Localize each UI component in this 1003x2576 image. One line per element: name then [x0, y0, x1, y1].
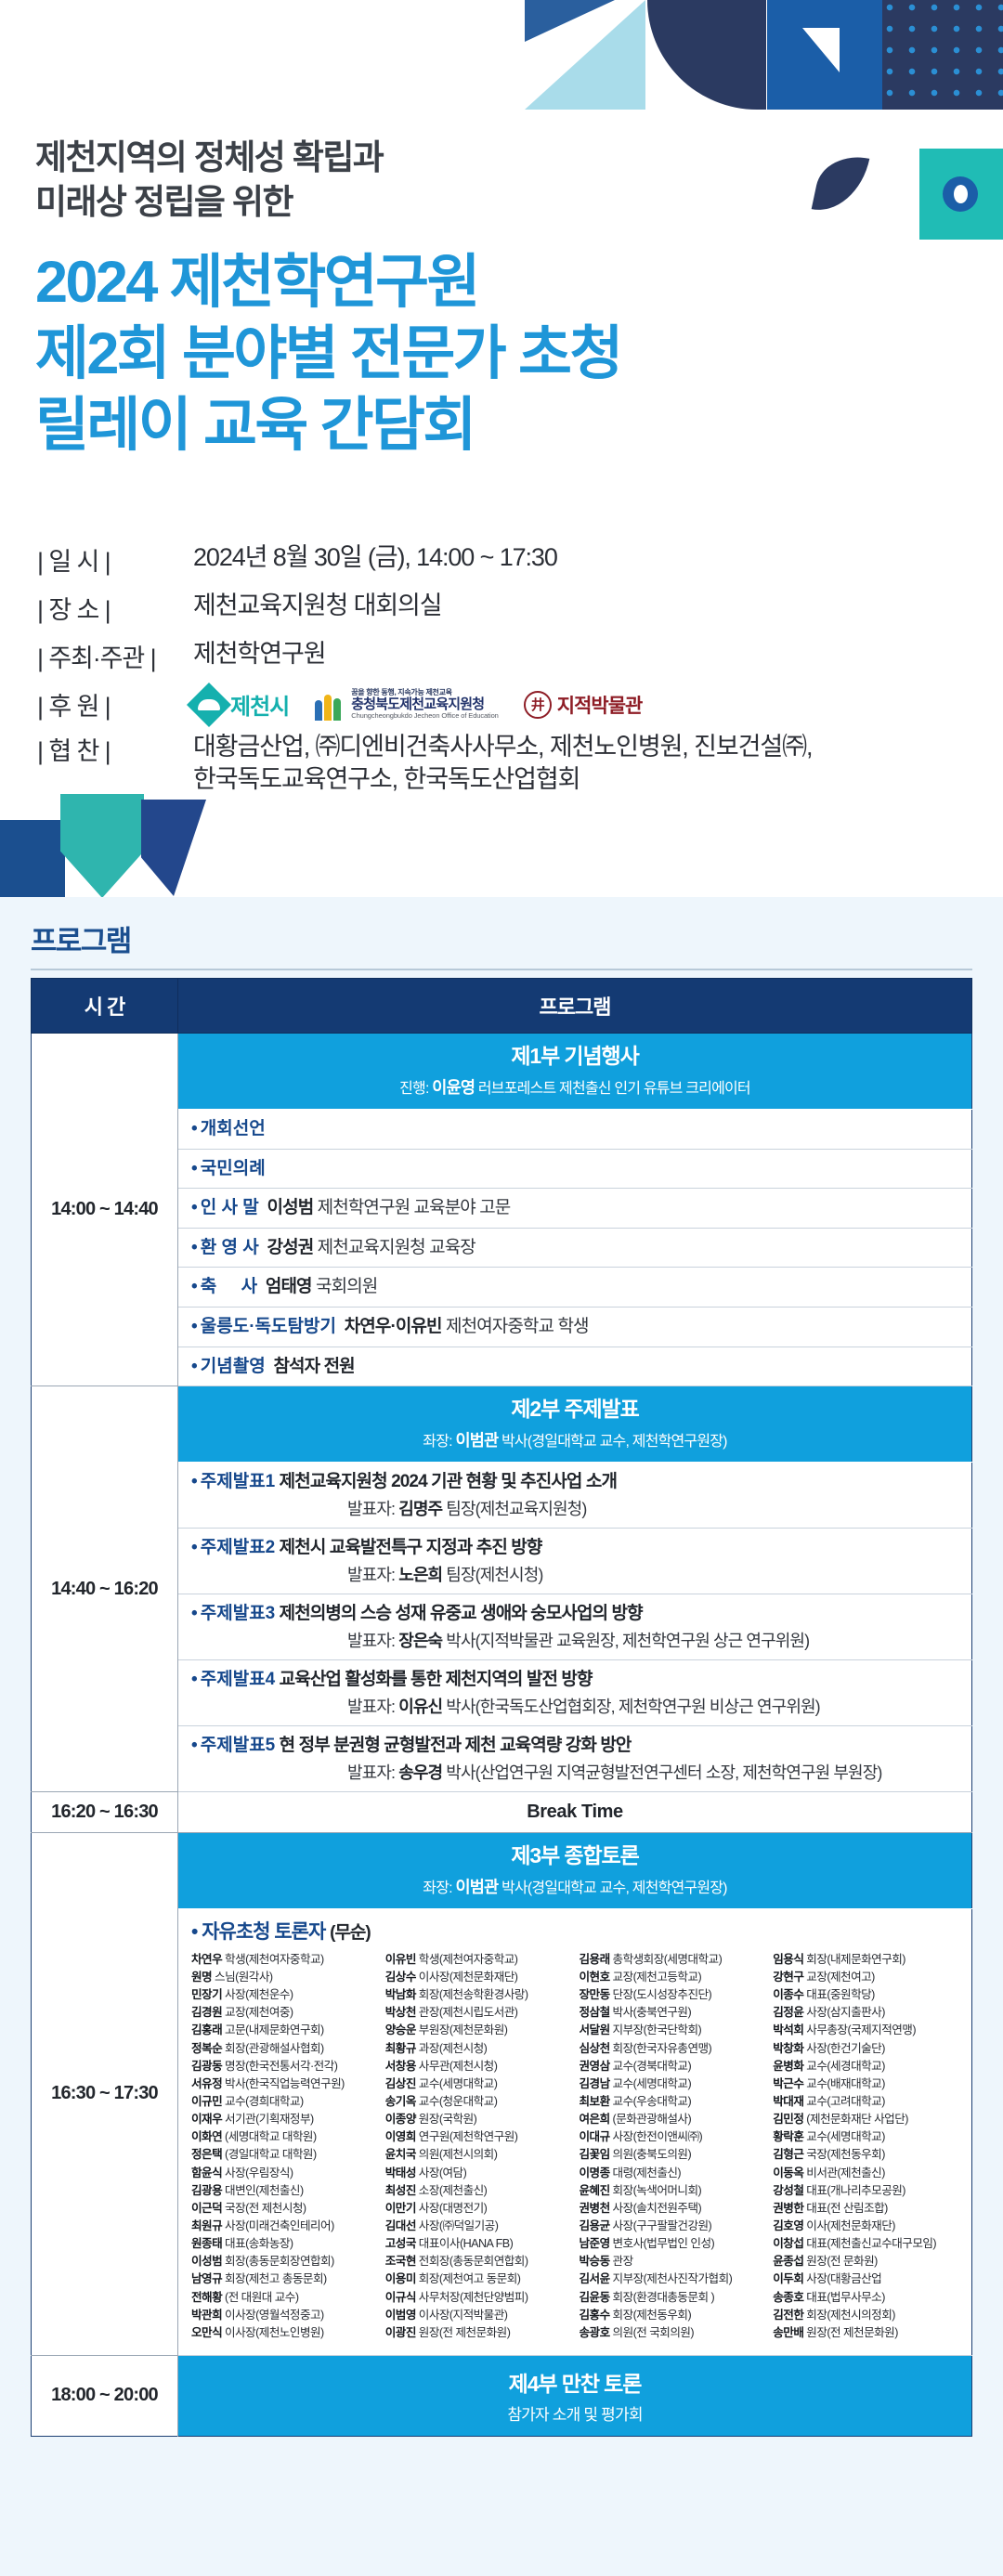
item-label: 개회선언 — [201, 1119, 266, 1138]
panelist-entry: 황락훈 교수(세명대학교) — [773, 2128, 960, 2146]
teal-box-shape — [919, 149, 1003, 240]
panelist-entry: 이창섭 대표(제천출신교수대구모임) — [773, 2235, 960, 2253]
panelist-entry: 고성국 대표이사(HANA FB) — [385, 2235, 573, 2253]
panelist-entry: 여은희 (문화관광해설사) — [580, 2111, 767, 2128]
panelist-role: 총학생회장(세명대학교) — [610, 1953, 723, 1966]
panelist-entry: 민장기 사장(제천운수) — [191, 1986, 379, 2004]
panelist-role: 의원(제천시의회) — [416, 2148, 498, 2161]
program-section: 프로그램 시 간 프로그램 14:00 ~ 14:40 제1부 기념행사 진행: — [0, 897, 1003, 2576]
panelist-name: 여은희 — [580, 2113, 610, 2126]
item-person: 강성권 — [267, 1238, 314, 1257]
panelist-name: 김용래 — [580, 1953, 610, 1966]
presenter-prefix: 발표자: — [347, 1632, 395, 1650]
section-title-part1: 제1부 기념행사 — [184, 1043, 966, 1071]
panelist-entry: 이용미 회장(제천여고 동문회) — [385, 2270, 573, 2288]
panelist-name: 박창화 — [773, 2042, 803, 2055]
panel-heading: • 자유초청 토론자 (무순) — [191, 1917, 960, 1945]
cream-accent-shape — [647, 80, 691, 110]
panelist-role: 교수(경북대학교) — [610, 2060, 692, 2073]
panelist-name: 이종양 — [385, 2113, 416, 2126]
panelist-entry: 남영규 회장(제천고 총동문회) — [191, 2270, 379, 2288]
event-info-block: | 일 시 | 2024년 8월 30일 (금), 14:00 ~ 17:30 … — [37, 541, 873, 807]
panelist-role: (경일대학교 대학원) — [222, 2148, 316, 2161]
item-person: 참석자 전원 — [273, 1357, 354, 1376]
bullet-icon: • — [191, 1357, 197, 1376]
panelist-name: 민장기 — [191, 1988, 222, 2001]
panelist-role: 회장(내제문화연구회) — [803, 1953, 905, 1966]
section-title-part4: 제4부 만찬 토론 — [184, 2366, 966, 2398]
panelist-name: 원명 — [191, 1971, 212, 1984]
section-title-part3: 제3부 종합토론 — [184, 1842, 966, 1870]
presenter-desc: 박사(산업연구원 지역균형발전연구센터 소장, 제천학연구원 부원장) — [446, 1763, 881, 1782]
panelist-role: 교수(경희대학교) — [222, 2095, 304, 2108]
jecheon-city-logo: 제천시 — [193, 688, 289, 721]
panelist-name: 김광용 — [191, 2184, 222, 2197]
panelist-role: 교수(우송대학교) — [610, 2095, 692, 2108]
panelist-entry: 이영희 연구원(제천학연구원) — [385, 2128, 573, 2146]
panelist-entry: 김형근 국장(제천동우회) — [773, 2146, 960, 2164]
section-header-part1: 제1부 기념행사 진행: 이윤영 러브포레스트 제천출신 인기 유튜브 크리에이… — [178, 1034, 972, 1110]
panelist-entry: 박창화 사장(한건기술단) — [773, 2040, 960, 2058]
panelist-name: 정복순 — [191, 2042, 222, 2055]
item-desc: 제천교육지원청 교육장 — [318, 1238, 475, 1257]
panelist-entry: 김용균 사장(구구팔팔건강원) — [580, 2218, 767, 2235]
panelist-entry: 김경원 교장(제천여중) — [191, 2004, 379, 2022]
panelist-role: 사장(우림장식) — [222, 2166, 293, 2179]
item-title: 제천시 교육발전특구 지정과 추진 방향 — [280, 1538, 542, 1557]
panelist-name: 김홍래 — [191, 2023, 222, 2036]
panelist-entry: 원명 스님(원각사) — [191, 1969, 379, 1986]
section-sub-part4: 참가자 소개 및 평가회 — [184, 2401, 966, 2425]
panelist-role: 회장(제천고 총동문회) — [222, 2272, 327, 2285]
item-title: 제천의병의 스승 성재 유중교 생애와 숭모사업의 방향 — [280, 1604, 643, 1623]
darknavy-rounded-shape — [647, 0, 766, 110]
diamond-icon — [187, 682, 231, 726]
info-label-sponsors: | 후 원 | — [37, 686, 193, 722]
panelist-role: 교수(청운대학교) — [416, 2095, 498, 2108]
panelist-entry: 송종호 대표(법무사무소) — [773, 2289, 960, 2307]
item-label: 국민의례 — [201, 1159, 266, 1178]
bullet-icon: • — [191, 1538, 197, 1557]
section-header-part4: 제4부 만찬 토론 참가자 소개 및 평가회 — [178, 2355, 972, 2436]
presenter-line: 발표자: 노은희 팀장(제천시청) — [191, 1564, 962, 1586]
panelist-entry: 이규민 교수(경희대학교) — [191, 2093, 379, 2111]
panelist-name: 최황규 — [385, 2042, 416, 2055]
panelist-role: (전 대원대 교수) — [222, 2291, 298, 2304]
poster-title: 2024 제천학연구원 제2회 분야별 전문가 초청 릴레이 교육 간담회 — [35, 247, 741, 462]
panelist-name: 송기옥 — [385, 2095, 416, 2108]
panelist-entry: 서달원 지부장(한국단학회) — [580, 2022, 767, 2039]
panelist-name: 박관희 — [191, 2309, 222, 2322]
time-cell-break: 16:20 ~ 16:30 — [32, 1791, 178, 1832]
panelist-entry: 김전한 회장(제천시의정회) — [773, 2307, 960, 2324]
info-value-cosponsors: 대황금산업, ㈜디엔비건축사사무소, 제천노인병원, 진보건설㈜, 한국독도교육… — [193, 731, 812, 795]
panelist-role: 교장(제천여고) — [803, 1971, 874, 1984]
item-title: 제천교육지원청 2024 기관 현황 및 추진사업 소개 — [280, 1472, 617, 1491]
program-item: •국민의례 — [178, 1149, 972, 1189]
item-desc: 국회의원 — [316, 1277, 377, 1296]
panelist-role: 회장(총동문회장연합회) — [222, 2255, 334, 2268]
panelist-name: 이창섭 — [773, 2237, 803, 2250]
panelist-role: 회장(제천시의정회) — [803, 2309, 895, 2322]
headline-block: 제천지역의 정체성 확립과 미래상 정립을 위한 2024 제천학연구원 제2회… — [35, 136, 741, 462]
panelist-role: 원장(전 제천문화원) — [803, 2326, 897, 2339]
host-desc: 박사(경일대학교 교수, 제천학연구원장) — [501, 1434, 727, 1450]
panelist-name: 김형근 — [773, 2148, 803, 2161]
program-item: •주제발표1 제천교육지원청 2024 기관 현황 및 추진사업 소개 발표자:… — [178, 1463, 972, 1529]
panelist-name: 송종호 — [773, 2291, 803, 2304]
presenter-desc: 박사(한국독도산업협회장, 제천학연구원 비상근 연구위원) — [446, 1698, 819, 1716]
panelist-name: 박근수 — [773, 2077, 803, 2090]
item-label: 주제발표4 — [201, 1670, 276, 1689]
panelist-entry: 최황규 과장(제천시청) — [385, 2040, 573, 2058]
time-cell-part2: 14:40 ~ 16:20 — [32, 1386, 178, 1792]
panelist-entry: 이광진 원장(전 제천문화원) — [385, 2324, 573, 2342]
panelist-role: (문화관광해설사) — [610, 2113, 692, 2126]
panelist-name: 양승운 — [385, 2023, 416, 2036]
panelist-name: 이두회 — [773, 2272, 803, 2285]
panelist-name: 박대재 — [773, 2095, 803, 2108]
section-host-part3: 좌장: 이범관 박사(경일대학교 교수, 제천학연구원장) — [184, 1875, 966, 1898]
panelist-entry: 송광호 의원(전 국회의원) — [580, 2324, 767, 2342]
panelist-role: 교수(세경대학교) — [803, 2060, 885, 2073]
panelist-role: 단장(도시성장추진단) — [610, 1988, 712, 2001]
host-prefix: 진행: — [399, 1081, 429, 1097]
panelist-role: 학생(제천여자중학교) — [416, 1953, 518, 1966]
info-row-datetime: | 일 시 | 2024년 8월 30일 (금), 14:00 ~ 17:30 — [37, 541, 873, 578]
info-value-venue: 제천교육지원청 대회의실 — [193, 590, 442, 622]
panelist-name: 이영희 — [385, 2130, 416, 2143]
section-host-part2: 좌장: 이범관 박사(경일대학교 교수, 제천학연구원장) — [184, 1428, 966, 1451]
panelist-name: 박상천 — [385, 2006, 416, 2019]
panelist-role: 국장(제천동우회) — [803, 2148, 885, 2161]
panelist-name: 이근덕 — [191, 2202, 222, 2215]
panelist-name: 이동옥 — [773, 2166, 803, 2179]
panelist-name: 권영삼 — [580, 2060, 610, 2073]
panelist-name: 윤종섭 — [773, 2255, 803, 2268]
panelist-name: 원종태 — [191, 2237, 222, 2250]
panelist-name: 임용식 — [773, 1953, 803, 1966]
panelist-entry: 이두회 사장(대황금산업 — [773, 2270, 960, 2288]
presenter-prefix: 발표자: — [347, 1500, 395, 1518]
panelist-entry: 이재우 서기관(기획재정부) — [191, 2111, 379, 2128]
panelist-column-1: 차연우 학생(제천여자중학교)원명 스님(원각사)민장기 사장(제천운수)김경원… — [191, 1951, 379, 2342]
panelist-entry: 박관희 이사장(영월석정중고) — [191, 2307, 379, 2324]
panelist-name: 송만배 — [773, 2326, 803, 2339]
item-label: 주제발표5 — [201, 1736, 276, 1755]
panelist-name: 최원규 — [191, 2219, 222, 2232]
panelist-entry: 서창용 사무관(제천시청) — [385, 2058, 573, 2075]
program-item: •주제발표3 제천의병의 스승 성재 유중교 생애와 숭모사업의 방향 발표자:… — [178, 1594, 972, 1660]
info-value-datetime: 2024년 8월 30일 (금), 14:00 ~ 17:30 — [193, 541, 557, 574]
panelist-role: 사장(한전이앤씨㈜) — [610, 2130, 703, 2143]
panelist-name: 이유빈 — [385, 1953, 416, 1966]
info-row-cosponsors: | 협 찬 | 대황금산업, ㈜디엔비건축사사무소, 제천노인병원, 진보건설㈜… — [37, 731, 873, 795]
seal-icon: 井 — [524, 691, 552, 719]
panelist-entry: 함윤식 사장(우림장식) — [191, 2165, 379, 2182]
panelist-entry: 이동옥 비서관(제천출신) — [773, 2165, 960, 2182]
panelist-role: 지부장(제천사진작가협회) — [610, 2272, 733, 2285]
panelist-entry: 김상수 이사장(제천문화재단) — [385, 1969, 573, 1986]
panelist-name: 김호영 — [773, 2219, 803, 2232]
item-person: 이성범 — [267, 1198, 314, 1217]
panelist-role: 회장(관광해설사협회) — [222, 2042, 324, 2055]
item-label: 주제발표2 — [201, 1538, 276, 1557]
panelist-role: 학생(제천여자중학교) — [222, 1953, 324, 1966]
panelist-name: 정삼철 — [580, 2006, 610, 2019]
program-table: 시 간 프로그램 14:00 ~ 14:40 제1부 기념행사 진행: 이윤영 … — [31, 978, 972, 2437]
panelist-role: 교수(고려대학교) — [803, 2095, 885, 2108]
panelist-name: 김경원 — [191, 2006, 222, 2019]
panelist-entry: 송기옥 교수(청운대학교) — [385, 2093, 573, 2111]
panelist-role: 대표(전 산림조합) — [803, 2202, 887, 2215]
panelist-name: 김광동 — [191, 2060, 222, 2073]
poster-subtitle: 제천지역의 정체성 확립과 미래상 정립을 위한 — [35, 136, 741, 225]
panelist-name: 윤병화 — [773, 2060, 803, 2073]
panelist-role: 사장(구구팔팔건강원) — [610, 2219, 712, 2232]
panelist-name: 김경남 — [580, 2077, 610, 2090]
panelist-entry: 박남화 회장(제천송학환경사랑) — [385, 1986, 573, 2004]
info-row-sponsors: | 후 원 | 제천시 꿈을 향한 동행, 지속가능 제천교육 충청북도제천교육… — [37, 686, 873, 722]
panelist-entry: 강성철 대표(개나리추모공원) — [773, 2182, 960, 2200]
panelist-entry: 윤치국 의원(제천시의회) — [385, 2146, 573, 2164]
panelist-role: 박사(한국직업능력연구원) — [222, 2077, 345, 2090]
info-value-organizer: 제천학연구원 — [193, 638, 325, 670]
panelist-entry: 김서윤 지부장(제천사진작가협회) — [580, 2270, 767, 2288]
panelist-name: 이광진 — [385, 2326, 416, 2339]
panelist-entry: 권영삼 교수(경북대학교) — [580, 2058, 767, 2075]
panelist-role: 회장(제천송학환경사랑) — [416, 1988, 528, 2001]
panelist-name: 강현구 — [773, 1971, 803, 1984]
jecheon-city-logo-text: 제천시 — [230, 688, 289, 721]
panelist-role: 관장 — [610, 2255, 633, 2268]
panelist-entry: 서유정 박사(한국직업능력연구원) — [191, 2075, 379, 2093]
panelist-role: 사장(삼지출판사) — [803, 2006, 885, 2019]
panelist-entry: 권병천 사장(솔치전원주택) — [580, 2200, 767, 2218]
item-title: 현 정부 분권형 균형발전과 제천 교육역량 강화 방안 — [280, 1736, 632, 1755]
panelist-entry: 김광용 대변인(제천출신) — [191, 2182, 379, 2200]
presenter-desc: 팀장(제천교육지원청) — [446, 1500, 586, 1518]
panelist-role: 사장(한건기술단) — [803, 2042, 885, 2055]
panel-list-cell: • 자유초청 토론자 (무순) 차연우 학생(제천여자중학교)원명 스님(원각사… — [178, 1908, 972, 2355]
panelist-name: 김상진 — [385, 2077, 416, 2090]
panelist-role: 교수(세명대학교) — [803, 2130, 885, 2143]
panelist-name: 김상수 — [385, 1971, 416, 1984]
panelist-name: 이규식 — [385, 2291, 416, 2304]
section-header-part2: 제2부 주제발표 좌장: 이범관 박사(경일대학교 교수, 제천학연구원장) — [178, 1386, 972, 1463]
dotted-pattern-shape — [882, 0, 1003, 110]
item-person: 차연우·이유빈 — [345, 1317, 442, 1336]
panelist-name: 박승동 — [580, 2255, 610, 2268]
panelist-name: 서유정 — [191, 2077, 222, 2090]
panelist-entry: 조국현 전회장(총동문회연합회) — [385, 2253, 573, 2270]
panelist-role: 사무총장(국제지적연맹) — [803, 2023, 916, 2036]
panelist-entry: 남준영 변호사(법무법인 인성) — [580, 2235, 767, 2253]
panelist-entry: 박석회 사무총장(국제지적연맹) — [773, 2022, 960, 2039]
table-row: 14:00 ~ 14:40 제1부 기념행사 진행: 이윤영 러브포레스트 제천… — [32, 1034, 972, 1110]
panelist-entry: 양승운 부원장(제천문화원) — [385, 2022, 573, 2039]
panelist-entry: 김호영 이사(제천문화재단) — [773, 2218, 960, 2235]
panelist-name: 김대선 — [385, 2219, 416, 2232]
bullet-icon: • — [191, 1317, 197, 1336]
panelist-entry: 이성범 회장(총동문회장연합회) — [191, 2253, 379, 2270]
panelist-column-2: 이유빈 학생(제천여자중학교)김상수 이사장(제천문화재단)박남화 회장(제천송… — [385, 1951, 573, 2342]
navy-chevron-shape — [141, 800, 206, 896]
panelist-entry: 이현호 교장(제천고등학교) — [580, 1969, 767, 1986]
panelist-role: 사장(대명전기) — [416, 2202, 487, 2215]
panelist-column-3: 김용래 총학생회장(세명대학교)이현호 교장(제천고등학교)장만동 단장(도시성… — [580, 1951, 767, 2342]
panelist-role: 연구원(제천학연구원) — [416, 2130, 518, 2143]
item-label: 기념촬영 — [201, 1357, 266, 1376]
panelist-role: 전회장(총동문회연합회) — [416, 2255, 528, 2268]
column-header-program: 프로그램 — [178, 979, 972, 1034]
bullet-icon: • — [191, 1198, 197, 1217]
panelist-role: 의원(전 국회의원) — [610, 2326, 694, 2339]
panelist-role: 교수(세명대학교) — [610, 2077, 692, 2090]
panelist-role: 이사장(제천문화재단) — [416, 1971, 518, 1984]
panelist-role: 회장(제천여고 동문회) — [416, 2272, 521, 2285]
host-desc: 러브포레스트 제천출신 인기 유튜브 크리에이터 — [478, 1081, 750, 1097]
panelist-entry: 최원규 사장(미래건축인테리어) — [191, 2218, 379, 2235]
panelist-entry: 차연우 학생(제천여자중학교) — [191, 1951, 379, 1969]
panelist-name: 권병천 — [580, 2202, 610, 2215]
panelist-entry: 윤혜진 회장(녹색어머니회) — [580, 2182, 767, 2200]
panelist-role: 사장(제천운수) — [222, 1988, 293, 2001]
panelist-entry: 이명종 대령(제천출신) — [580, 2165, 767, 2182]
edu-logo-name: 충청북도제천교육지원청 — [351, 697, 499, 712]
panelist-name: 황락훈 — [773, 2130, 803, 2143]
bullet-icon: • — [191, 1119, 197, 1138]
panelist-name: 남준영 — [580, 2237, 610, 2250]
presenter-desc: 팀장(제천시청) — [446, 1566, 542, 1584]
presenter-name: 김명주 — [398, 1500, 442, 1518]
panelist-name: 권병한 — [773, 2202, 803, 2215]
panelist-entry: 박대재 교수(고려대학교) — [773, 2093, 960, 2111]
panelist-role: 지부장(한국단학회) — [610, 2023, 702, 2036]
panelist-name: 김민정 — [773, 2113, 803, 2126]
panelist-entry: 이규식 사무처장(제천단양범피) — [385, 2289, 573, 2307]
item-label: 울릉도·독도탐방기 — [201, 1317, 336, 1336]
panelist-name: 이종수 — [773, 1988, 803, 2001]
panelist-name: 차연우 — [191, 1953, 222, 1966]
panelist-entry: 권병한 대표(전 산림조합) — [773, 2200, 960, 2218]
item-title: 교육산업 활성화를 통한 제천지역의 발전 방향 — [280, 1670, 593, 1689]
presenter-line: 발표자: 이유신 박사(한국독도산업협회장, 제천학연구원 비상근 연구위원) — [191, 1696, 962, 1718]
panelist-role: 소장(제천출신) — [416, 2184, 487, 2197]
panelist-entry: 이근덕 국장(전 제천시청) — [191, 2200, 379, 2218]
panelist-name: 이용미 — [385, 2272, 416, 2285]
presenter-prefix: 발표자: — [347, 1566, 395, 1584]
time-cell-part4: 18:00 ~ 20:00 — [32, 2355, 178, 2436]
panelist-role: 회장(제천동우회) — [610, 2309, 692, 2322]
panelist-role: (세명대학교 대학원) — [222, 2130, 316, 2143]
panelist-role: 교장(제천여중) — [222, 2006, 293, 2019]
ring-icon — [943, 176, 978, 212]
poster-root: 제천지역의 정체성 확립과 미래상 정립을 위한 2024 제천학연구원 제2회… — [0, 0, 1003, 2576]
panelist-name: 최성진 — [385, 2184, 416, 2197]
panelist-name: 최보환 — [580, 2095, 610, 2108]
panelist-role: 국장(전 제천시청) — [222, 2202, 306, 2215]
bullet-icon: • — [191, 1736, 197, 1755]
item-label: 주제발표1 — [201, 1472, 276, 1491]
section-host-part1: 진행: 이윤영 러브포레스트 제천출신 인기 유튜브 크리에이터 — [184, 1075, 966, 1099]
panelist-name: 이대규 — [580, 2130, 610, 2143]
panelist-entry: 장만동 단장(도시성장추진단) — [580, 1986, 767, 2004]
panelist-role: 교장(제천고등학교) — [610, 1971, 702, 1984]
section-header-part3: 제3부 종합토론 좌장: 이범관 박사(경일대학교 교수, 제천학연구원장) — [178, 1832, 972, 1908]
panelist-entry: 김상진 교수(세명대학교) — [385, 2075, 573, 2093]
panelist-name: 정은택 — [191, 2148, 222, 2161]
office-of-education-logo: 꿈을 향한 동행, 지속가능 제천교육 충청북도제천교육지원청 Chungche… — [314, 689, 499, 721]
panelist-name: 남영규 — [191, 2272, 222, 2285]
panelist-role: 이사(제천문화재단) — [803, 2219, 895, 2232]
navy-droplet-shape — [812, 150, 870, 219]
panelist-name: 김서윤 — [580, 2272, 610, 2285]
panelist-entry: 박상천 관장(제천시립도서관) — [385, 2004, 573, 2022]
panelist-name: 함윤식 — [191, 2166, 222, 2179]
middle-decoration — [0, 794, 1003, 901]
panelist-name: 김꽃임 — [580, 2148, 610, 2161]
item-desc: 제천학연구원 교육분야 고문 — [318, 1198, 511, 1217]
program-item: •축 사 엄태영 국회의원 — [178, 1268, 972, 1308]
panelist-grid: 차연우 학생(제천여자중학교)원명 스님(원각사)민장기 사장(제천운수)김경원… — [191, 1951, 960, 2342]
panelist-name: 이현호 — [580, 1971, 610, 1984]
bullet-icon: • — [191, 1670, 197, 1689]
panelist-name: 이규민 — [191, 2095, 222, 2108]
panelist-name: 김용균 — [580, 2219, 610, 2232]
bullet-icon: • — [191, 1277, 197, 1296]
panelist-entry: 임용식 회장(내제문화연구회) — [773, 1951, 960, 1969]
panelist-entry: 박근수 교수(배재대학교) — [773, 2075, 960, 2093]
panelist-entry: 김광동 명장(한국전통서각·전각) — [191, 2058, 379, 2075]
blue-square-arrow-shape — [767, 0, 882, 110]
host-desc: 박사(경일대학교 교수, 제천학연구원장) — [501, 1880, 727, 1896]
panelist-name: 강성철 — [773, 2184, 803, 2197]
sponsor-logo-group: 제천시 꿈을 향한 동행, 지속가능 제천교육 충청북도제천교육지원청 Chun… — [193, 688, 642, 721]
panelist-entry: 윤종섭 원장(전 문화원) — [773, 2253, 960, 2270]
table-row: 16:30 ~ 17:30 제3부 종합토론 좌장: 이범관 박사(경일대학교 … — [32, 1832, 972, 1908]
info-label-organizer: | 주최·주관 | — [37, 638, 193, 674]
panelist-role: 회장(환경대총동문회 ) — [610, 2291, 715, 2304]
table-header-row: 시 간 프로그램 — [32, 979, 972, 1034]
panelist-entry: 이대규 사장(한전이앤씨㈜) — [580, 2128, 767, 2146]
host-name: 이범관 — [455, 1431, 498, 1450]
panelist-entry: 김홍수 회장(제천동우회) — [580, 2307, 767, 2324]
panelist-role: 변호사(법무법인 인성) — [610, 2237, 715, 2250]
item-person: 엄태영 — [266, 1277, 312, 1296]
panelist-entry: 김경남 교수(세명대학교) — [580, 2075, 767, 2093]
panelist-role: 부원장(제천문화원) — [416, 2023, 508, 2036]
panelist-role: 대표(송화농장) — [222, 2237, 293, 2250]
program-item: •기념촬영 참석자 전원 — [178, 1347, 972, 1386]
panelist-role: 사장(㈜덕일기공) — [416, 2219, 499, 2232]
panelist-role: 이사장(지적박물관) — [416, 2309, 508, 2322]
program-item: •개회선언 — [178, 1109, 972, 1149]
panelist-role: 스님(원각사) — [212, 1971, 272, 1984]
panelist-entry: 김꽃임 의원(충북도의원) — [580, 2146, 767, 2164]
item-label: 주제발표3 — [201, 1604, 276, 1623]
panelist-name: 김윤동 — [580, 2291, 610, 2304]
host-prefix: 좌장: — [423, 1434, 452, 1450]
program-item: •인 사 말 이성범 제천학연구원 교육분야 고문 — [178, 1189, 972, 1229]
navy-block-shape — [0, 820, 65, 898]
panelist-entry: 최보환 교수(우송대학교) — [580, 2093, 767, 2111]
lightblue-triangle-shape — [525, 0, 645, 110]
panelist-role: 과장(제천시청) — [416, 2042, 487, 2055]
panelist-role: 교수(세명대학교) — [416, 2077, 498, 2090]
panelist-name: 김정윤 — [773, 2006, 803, 2019]
teal-chevron-shape — [60, 794, 144, 898]
